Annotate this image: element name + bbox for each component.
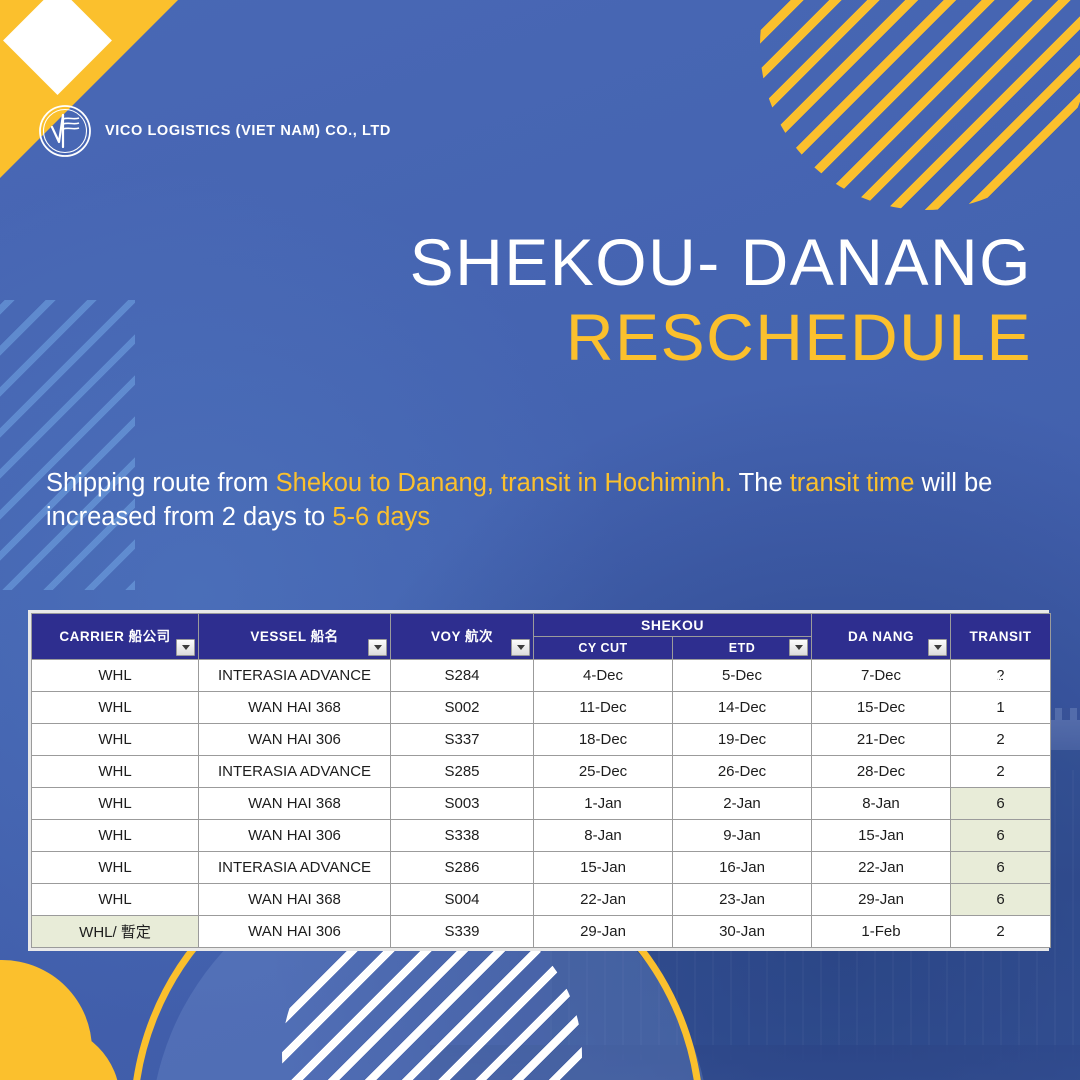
cell-voy: S339	[391, 916, 534, 948]
cell-cy-cut: 25-Dec	[534, 756, 673, 788]
cell-da-nang: 1-Feb	[812, 916, 951, 948]
cell-voy: S003	[391, 788, 534, 820]
cell-carrier: WHL	[32, 788, 199, 820]
cell-transit: 2	[951, 724, 1051, 756]
table-row: WHLINTERASIA ADVANCES28525-Dec26-Dec28-D…	[32, 756, 1051, 788]
header-cy-cut-label: CY CUT	[534, 637, 672, 659]
cell-transit: 6	[951, 788, 1051, 820]
top-right-stripes-decoration	[760, 0, 1080, 210]
cell-cy-cut: 1-Jan	[534, 788, 673, 820]
filter-dropdown-icon-voy[interactable]	[511, 639, 530, 656]
cell-transit: 2	[951, 756, 1051, 788]
cell-da-nang: 15-Dec	[812, 692, 951, 724]
cell-vessel: WAN HAI 368	[199, 884, 391, 916]
title-line-2: RESCHEDULE	[410, 303, 1032, 372]
subtitle-paragraph: Shipping route from Shekou to Danang, tr…	[46, 466, 1031, 534]
cell-cy-cut: 4-Dec	[534, 660, 673, 692]
title-line-1: SHEKOU- DANANG	[410, 228, 1032, 297]
table-body: WHLINTERASIA ADVANCES2844-Dec5-Dec7-Dec2…	[32, 660, 1051, 948]
schedule-table-wrapper: CARRIER 船公司 VESSEL 船名 VOY 航次 SHEKOU	[28, 610, 1049, 951]
table-row: WHLINTERASIA ADVANCES2844-Dec5-Dec7-Dec2	[32, 660, 1051, 692]
cell-carrier: WHL	[32, 820, 199, 852]
cell-vessel: INTERASIA ADVANCE	[199, 852, 391, 884]
cell-vessel: WAN HAI 306	[199, 724, 391, 756]
header-vessel[interactable]: VESSEL 船名	[199, 614, 391, 660]
table-header: CARRIER 船公司 VESSEL 船名 VOY 航次 SHEKOU	[32, 614, 1051, 660]
cell-cy-cut: 11-Dec	[534, 692, 673, 724]
cell-voy: S285	[391, 756, 534, 788]
filter-dropdown-icon-danang[interactable]	[928, 639, 947, 656]
table-row: WHLWAN HAI 368S00422-Jan23-Jan29-Jan6	[32, 884, 1051, 916]
header-etd[interactable]: ETD	[673, 637, 812, 660]
table-row: WHLWAN HAI 306S3388-Jan9-Jan15-Jan6	[32, 820, 1051, 852]
cell-etd: 23-Jan	[673, 884, 812, 916]
brand-logo-row: VICO LOGISTICS (VIET NAM) CO., LTD	[38, 104, 391, 158]
cell-da-nang: 22-Jan	[812, 852, 951, 884]
cell-voy: S002	[391, 692, 534, 724]
cell-carrier: WHL/ 暫定	[32, 916, 199, 948]
cell-etd: 26-Dec	[673, 756, 812, 788]
cell-transit: 6	[951, 852, 1051, 884]
table-row: WHLWAN HAI 368S00211-Dec14-Dec15-Dec1	[32, 692, 1051, 724]
subtitle-highlight-2: transit time	[790, 469, 915, 497]
cell-voy: S286	[391, 852, 534, 884]
cell-etd: 19-Dec	[673, 724, 812, 756]
cell-cy-cut: 15-Jan	[534, 852, 673, 884]
subtitle-part-2: The	[732, 469, 790, 497]
cell-da-nang: 15-Jan	[812, 820, 951, 852]
schedule-table: CARRIER 船公司 VESSEL 船名 VOY 航次 SHEKOU	[31, 613, 1051, 948]
company-name: VICO LOGISTICS (VIET NAM) CO., LTD	[105, 123, 391, 139]
table-row: WHLINTERASIA ADVANCES28615-Jan16-Jan22-J…	[32, 852, 1051, 884]
filter-dropdown-icon-vessel[interactable]	[368, 639, 387, 656]
poster-canvas: VICO LOGISTICS (VIET NAM) CO., LTD SHEKO…	[0, 0, 1080, 1080]
cell-voy: S284	[391, 660, 534, 692]
bottom-left-circle-decoration-2	[0, 1025, 120, 1080]
table-row: WHLWAN HAI 368S0031-Jan2-Jan8-Jan6	[32, 788, 1051, 820]
header-cy-cut: CY CUT	[534, 637, 673, 660]
cell-etd: 2-Jan	[673, 788, 812, 820]
header-transit-time-label: TRANSIT TIME	[951, 615, 1050, 659]
cell-vessel: WAN HAI 368	[199, 788, 391, 820]
cell-carrier: WHL	[32, 884, 199, 916]
cell-transit: 2	[951, 916, 1051, 948]
cell-voy: S337	[391, 724, 534, 756]
header-da-nang[interactable]: DA NANG	[812, 614, 951, 660]
title-block: SHEKOU- DANANG RESCHEDULE	[410, 228, 1032, 371]
cell-da-nang: 8-Jan	[812, 788, 951, 820]
filter-dropdown-icon-carrier[interactable]	[176, 639, 195, 656]
cell-cy-cut: 29-Jan	[534, 916, 673, 948]
subtitle-highlight-3: 5-6 days	[332, 503, 430, 531]
cell-cy-cut: 18-Dec	[534, 724, 673, 756]
subtitle-part-1: Shipping route from	[46, 469, 276, 497]
cell-transit: 6	[951, 884, 1051, 916]
table-row: WHLWAN HAI 306S33718-Dec19-Dec21-Dec2	[32, 724, 1051, 756]
cell-vessel: WAN HAI 368	[199, 692, 391, 724]
subtitle-highlight-1: Shekou to Danang, transit in Hochiminh.	[276, 469, 732, 497]
header-carrier-label: CARRIER 船公司	[32, 615, 198, 659]
cell-cy-cut: 22-Jan	[534, 884, 673, 916]
cell-etd: 9-Jan	[673, 820, 812, 852]
cell-voy: S004	[391, 884, 534, 916]
table-row: WHL/ 暫定WAN HAI 306S33929-Jan30-Jan1-Feb2	[32, 916, 1051, 948]
cell-carrier: WHL	[32, 724, 199, 756]
cell-da-nang: 29-Jan	[812, 884, 951, 916]
cell-vessel: INTERASIA ADVANCE	[199, 756, 391, 788]
cell-voy: S338	[391, 820, 534, 852]
cell-da-nang: 7-Dec	[812, 660, 951, 692]
header-vessel-label: VESSEL 船名	[199, 615, 390, 659]
cell-vessel: WAN HAI 306	[199, 820, 391, 852]
cell-carrier: WHL	[32, 852, 199, 884]
cell-carrier: WHL	[32, 660, 199, 692]
header-transit-time: TRANSIT TIME	[951, 614, 1051, 660]
cell-da-nang: 21-Dec	[812, 724, 951, 756]
cell-vessel: WAN HAI 306	[199, 916, 391, 948]
cell-etd: 30-Jan	[673, 916, 812, 948]
cell-etd: 5-Dec	[673, 660, 812, 692]
cell-etd: 16-Jan	[673, 852, 812, 884]
cell-da-nang: 28-Dec	[812, 756, 951, 788]
header-group-shekou: SHEKOU	[534, 614, 812, 637]
cell-etd: 14-Dec	[673, 692, 812, 724]
filter-dropdown-icon-etd[interactable]	[789, 639, 808, 656]
header-group-shekou-label: SHEKOU	[534, 614, 811, 636]
cell-vessel: INTERASIA ADVANCE	[199, 660, 391, 692]
left-diagonal-stripes-decoration	[0, 300, 135, 590]
vico-circle-logo-icon	[38, 104, 92, 158]
cell-carrier: WHL	[32, 692, 199, 724]
cell-carrier: WHL	[32, 756, 199, 788]
header-voy[interactable]: VOY 航次	[391, 614, 534, 660]
header-carrier[interactable]: CARRIER 船公司	[32, 614, 199, 660]
cell-cy-cut: 8-Jan	[534, 820, 673, 852]
table-header-row: CARRIER 船公司 VESSEL 船名 VOY 航次 SHEKOU	[32, 614, 1051, 637]
cell-transit: 6	[951, 820, 1051, 852]
